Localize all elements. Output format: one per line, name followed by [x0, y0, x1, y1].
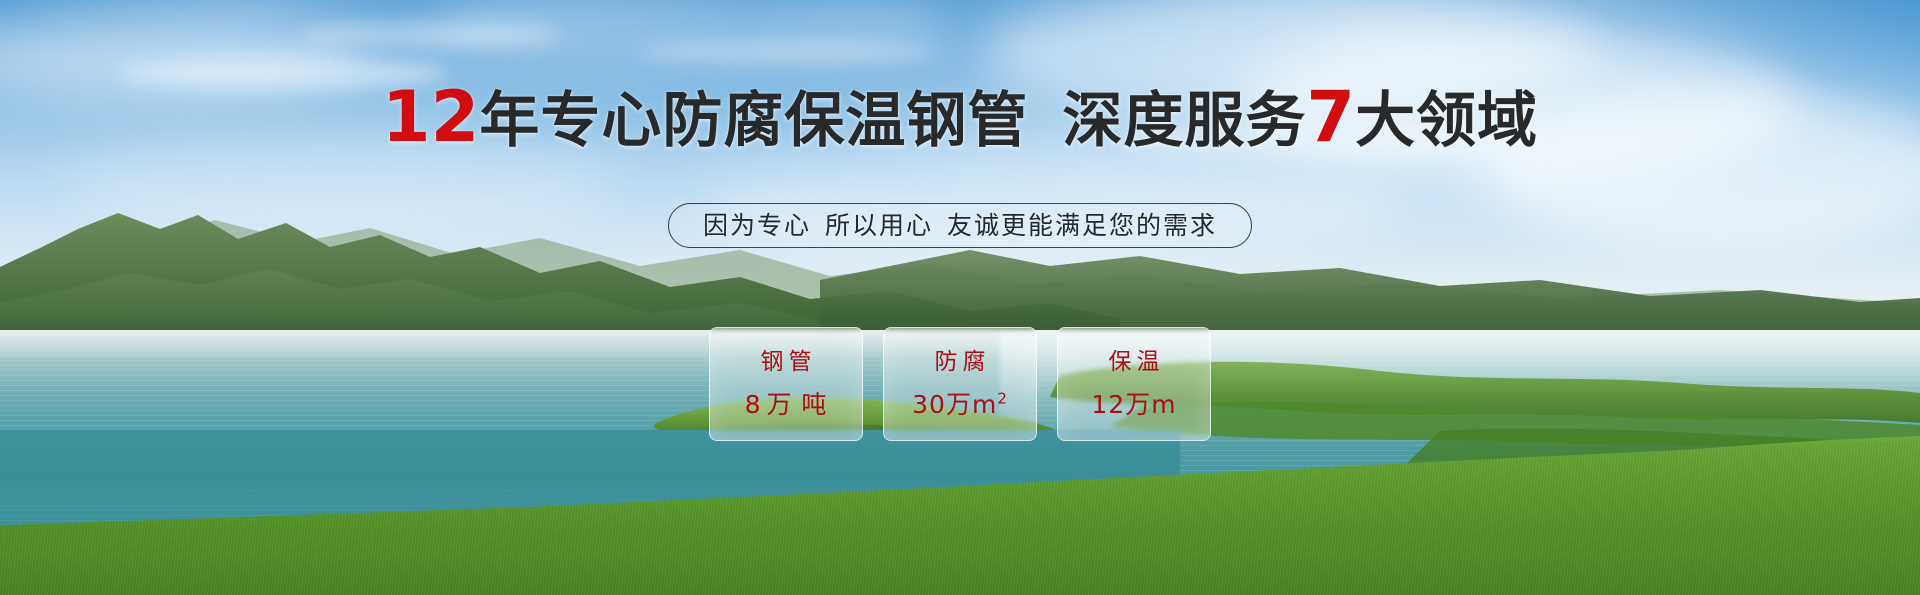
stat-value-number: 12	[1091, 390, 1125, 419]
headline-fields-number: 7	[1306, 76, 1355, 158]
headline-lead-text: 年专心防腐保温钢管	[479, 86, 1028, 156]
stat-card-value: 30万m2	[912, 391, 1008, 419]
hero-banner: 12年专心防腐保温钢管深度服务7大领域 因为专心所以用心友诚更能满足您的需求 钢…	[0, 0, 1920, 595]
banner-content: 12年专心防腐保温钢管深度服务7大领域 因为专心所以用心友诚更能满足您的需求 钢…	[0, 0, 1920, 595]
stat-card: 防腐 30万m2	[883, 327, 1037, 441]
stat-card-value: 8万 吨	[745, 391, 828, 419]
subtitle-part-2: 所以用心	[825, 211, 933, 240]
headline-second-text-before: 深度服务	[1062, 86, 1306, 156]
stat-card-title: 钢管	[756, 349, 817, 375]
subtitle-pill: 因为专心所以用心友诚更能满足您的需求	[668, 203, 1252, 248]
stat-value-number: 8	[745, 390, 762, 419]
stat-card-title: 保温	[1104, 349, 1165, 375]
headline: 12年专心防腐保温钢管深度服务7大领域	[0, 84, 1920, 154]
stat-card-group: 钢管 8万 吨 防腐 30万m2 保温 12万m	[709, 327, 1211, 441]
headline-years-number: 12	[382, 76, 479, 158]
stat-value-unit: 万m	[946, 390, 997, 419]
stat-value-superscript: 2	[997, 390, 1008, 408]
subtitle-part-3: 友诚更能满足您的需求	[947, 211, 1217, 240]
stat-value-number: 30	[912, 390, 946, 419]
headline-second-text-after: 大领域	[1355, 86, 1538, 156]
stat-card-value: 12万m	[1091, 391, 1176, 419]
stat-card: 保温 12万m	[1057, 327, 1211, 441]
subtitle-part-1: 因为专心	[703, 211, 811, 240]
stat-value-unit: 万 吨	[766, 390, 827, 419]
stat-value-unit: 万m	[1125, 390, 1176, 419]
subtitle-text: 因为专心所以用心友诚更能满足您的需求	[703, 212, 1217, 240]
stat-card-title: 防腐	[930, 349, 991, 375]
stat-card: 钢管 8万 吨	[709, 327, 863, 441]
